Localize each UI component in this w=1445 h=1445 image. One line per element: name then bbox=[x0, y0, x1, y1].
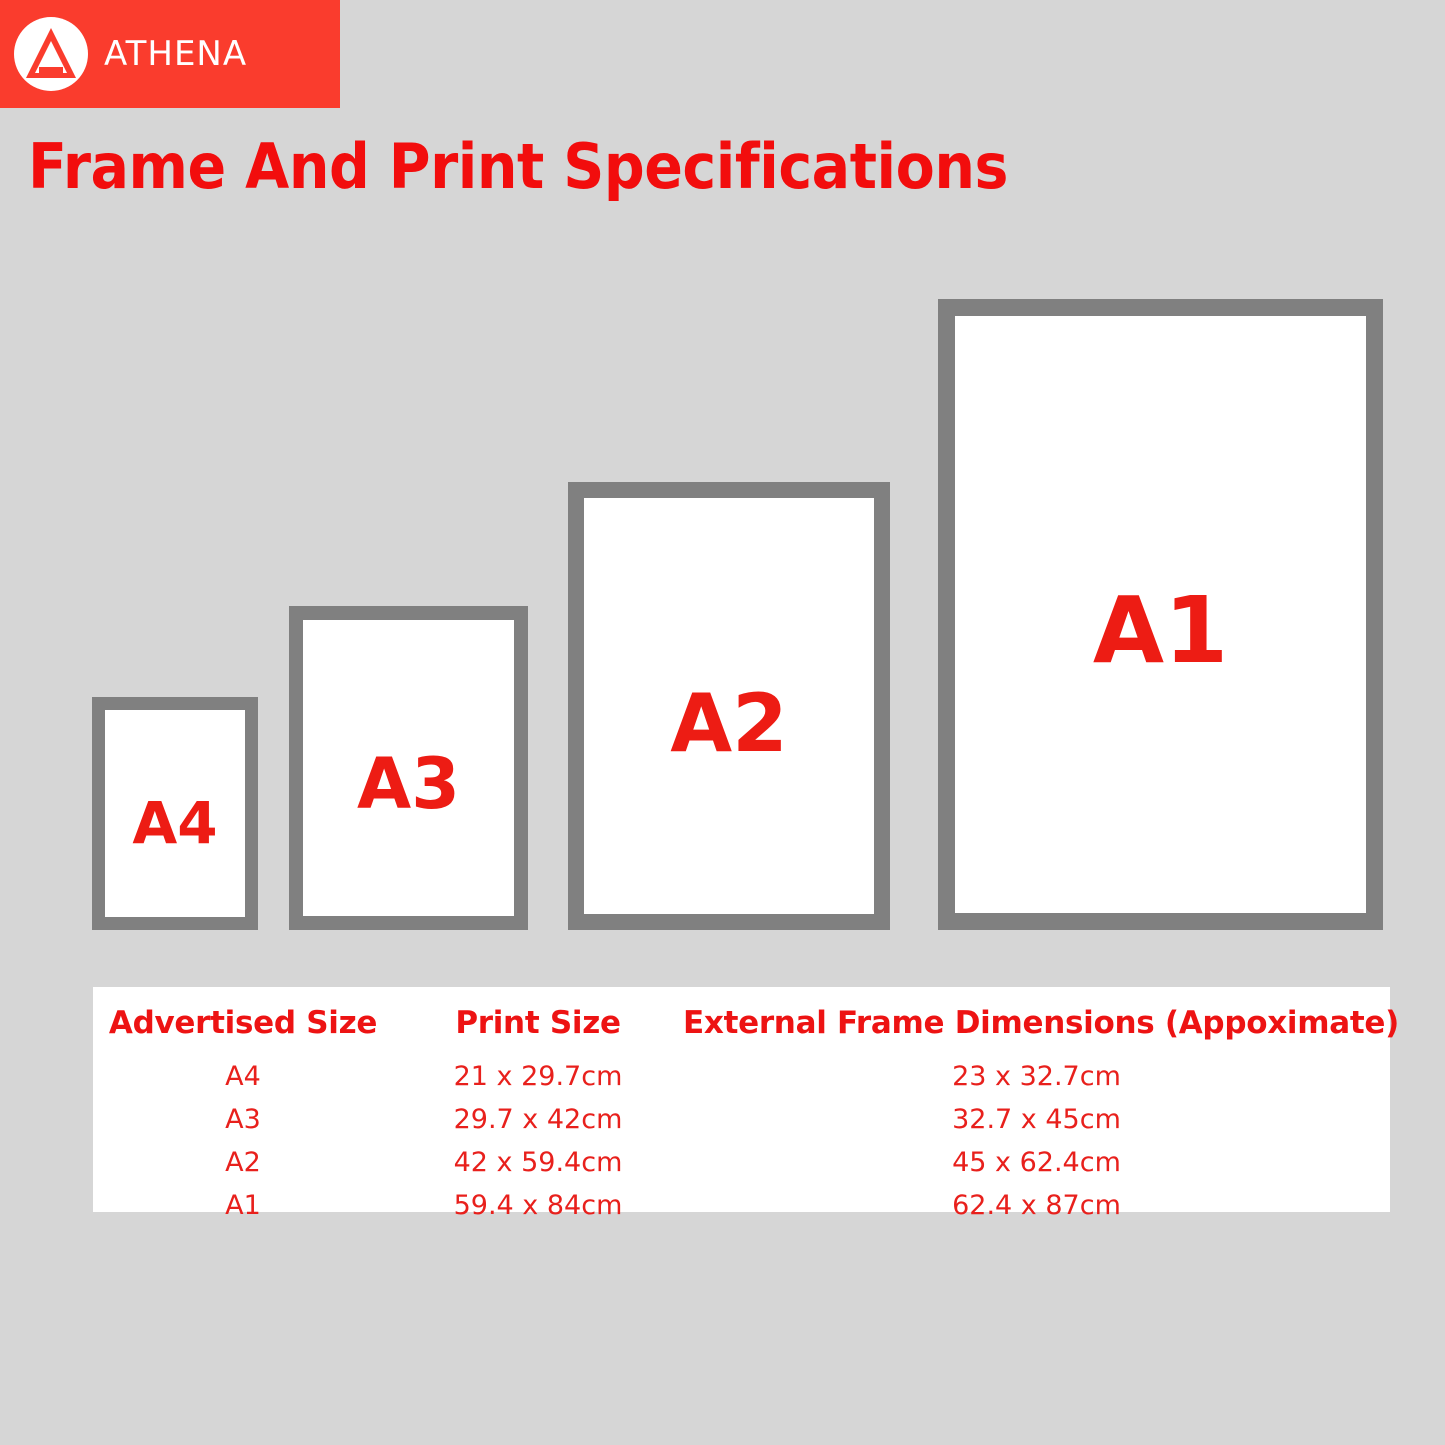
spec-table-head: Advertised Size Print Size External Fram… bbox=[93, 1003, 1390, 1055]
frame-label-a2: A2 bbox=[670, 684, 788, 764]
table-row: A2 42 x 59.4cm 45 x 62.4cm bbox=[93, 1141, 1390, 1184]
cell-print-size: 29.7 x 42cm bbox=[393, 1098, 683, 1141]
frame-label-a3: A3 bbox=[357, 749, 460, 819]
frame-sample-a2: A2 bbox=[568, 482, 890, 930]
frame-label-a4: A4 bbox=[132, 794, 217, 852]
cell-external-frame: 62.4 x 87cm bbox=[683, 1184, 1390, 1227]
table-header-row: Advertised Size Print Size External Fram… bbox=[93, 1003, 1390, 1055]
cell-advertised-size: A1 bbox=[93, 1184, 393, 1227]
cell-external-frame: 23 x 32.7cm bbox=[683, 1055, 1390, 1098]
frame-label-a1: A1 bbox=[1093, 585, 1228, 677]
table-row: A1 59.4 x 84cm 62.4 x 87cm bbox=[93, 1184, 1390, 1227]
cell-external-frame: 45 x 62.4cm bbox=[683, 1141, 1390, 1184]
column-header-advertised-size: Advertised Size bbox=[93, 1003, 393, 1055]
spec-table-body: A4 21 x 29.7cm 23 x 32.7cm A3 29.7 x 42c… bbox=[93, 1055, 1390, 1227]
cell-print-size: 21 x 29.7cm bbox=[393, 1055, 683, 1098]
table-row: A4 21 x 29.7cm 23 x 32.7cm bbox=[93, 1055, 1390, 1098]
table-row: A3 29.7 x 42cm 32.7 x 45cm bbox=[93, 1098, 1390, 1141]
cell-advertised-size: A3 bbox=[93, 1098, 393, 1141]
frame-size-comparison: A4 A3 A2 A1 bbox=[0, 0, 1445, 960]
frame-sample-a1: A1 bbox=[938, 299, 1383, 930]
frame-sample-a3: A3 bbox=[289, 606, 528, 930]
cell-print-size: 59.4 x 84cm bbox=[393, 1184, 683, 1227]
cell-print-size: 42 x 59.4cm bbox=[393, 1141, 683, 1184]
column-header-external-frame: External Frame Dimensions (Appoximate) bbox=[683, 1003, 1390, 1055]
spec-table-element: Advertised Size Print Size External Fram… bbox=[93, 1003, 1390, 1227]
cell-external-frame: 32.7 x 45cm bbox=[683, 1098, 1390, 1141]
frame-sample-a4: A4 bbox=[92, 697, 258, 930]
specifications-table: Advertised Size Print Size External Fram… bbox=[93, 987, 1390, 1212]
column-header-print-size: Print Size bbox=[393, 1003, 683, 1055]
cell-advertised-size: A4 bbox=[93, 1055, 393, 1098]
cell-advertised-size: A2 bbox=[93, 1141, 393, 1184]
